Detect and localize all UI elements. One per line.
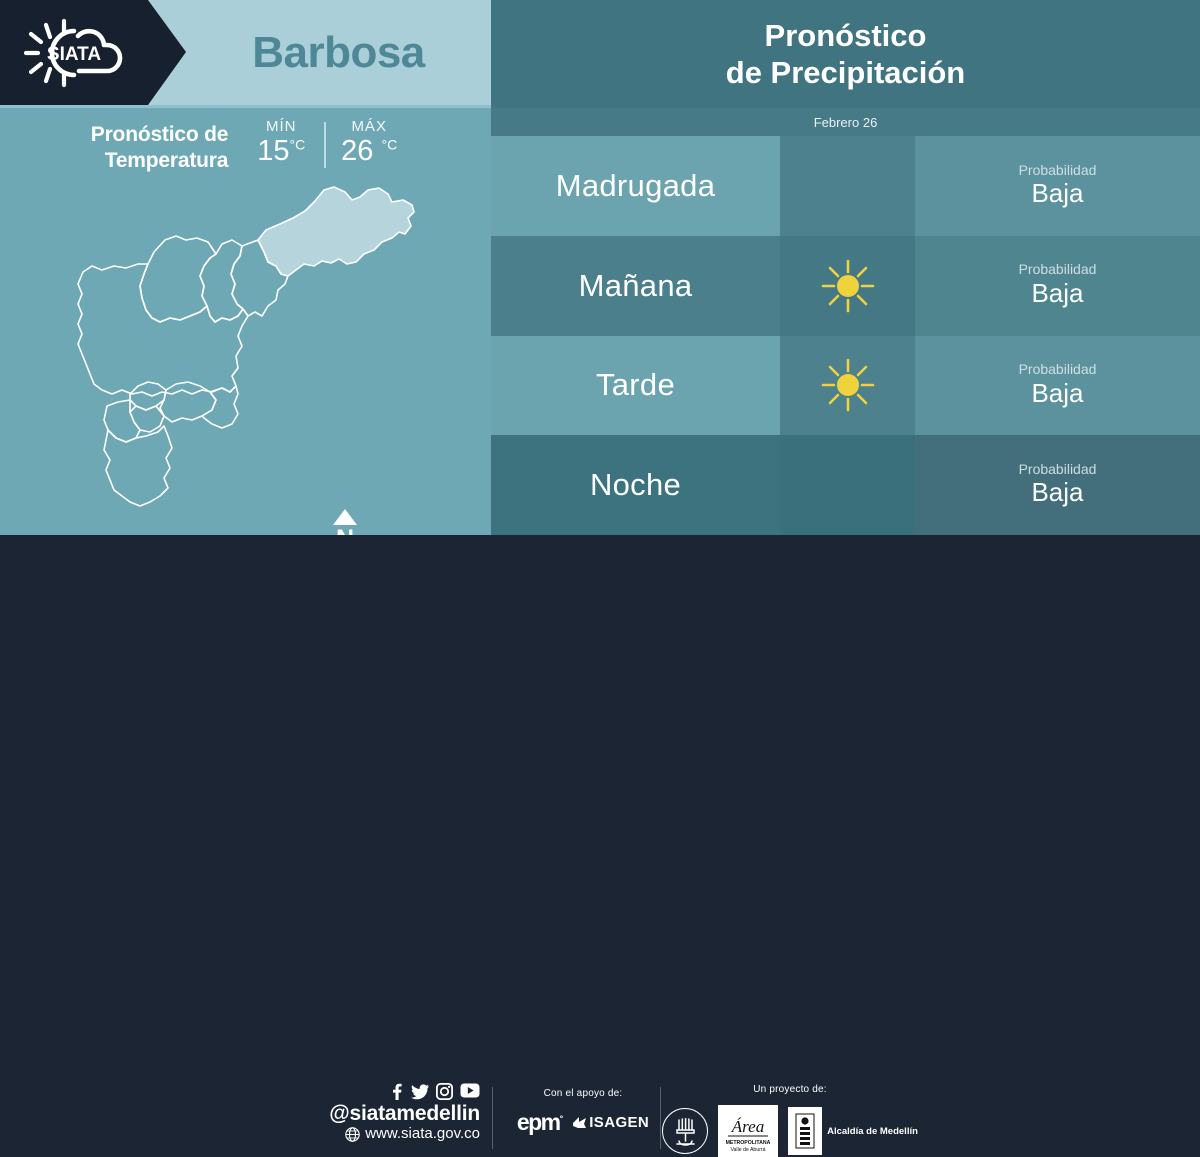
table-row[interactable]: Tarde [491, 336, 1200, 436]
siata-logo-text: SIATA [47, 44, 101, 65]
header-divider [0, 105, 491, 108]
area-metropolitana-logo[interactable]: Área METROPOLITANA Valle de Aburrá [718, 1105, 778, 1157]
alcaldia-logo[interactable]: Alcaldía de Medellín [788, 1107, 918, 1155]
table-row[interactable]: Madrugada Probabilidad Baja [491, 136, 1200, 236]
map-region-barbosa [258, 187, 414, 276]
temperature-title-line2: Temperatura [91, 148, 228, 174]
social-icons [300, 1083, 480, 1100]
period-label: Mañana [579, 268, 693, 304]
twitter-icon[interactable] [411, 1083, 429, 1100]
youtube-icon[interactable] [460, 1083, 480, 1098]
temperature-min-value: 15°C [257, 136, 305, 167]
temperature-min: MÍN 15°C [250, 118, 312, 167]
precipitation-title-line1: Pronóstico [765, 17, 927, 54]
area-logo-line1: METROPOLITANA [726, 1140, 771, 1146]
temperature-min-label: MÍN [266, 118, 297, 135]
period-cell: Mañana [491, 236, 780, 336]
probability-caption: Probabilidad [1019, 462, 1097, 477]
isagen-logo[interactable]: ISAGEN [572, 1114, 649, 1131]
probability-caption: Probabilidad [1019, 262, 1097, 277]
area-metropolitana-icon: Área METROPOLITANA Valle de Aburrá [719, 1106, 777, 1156]
probability-cell: Probabilidad Baja [915, 136, 1200, 236]
moon-icon [822, 160, 874, 212]
weather-forecast-card: SIATA Barbosa Pronóstico de Temperatura … [0, 0, 1200, 630]
map-region-sabaneta [130, 406, 164, 432]
temperature-min-unit: °C [289, 136, 305, 152]
social-handle[interactable]: @siatamedellin [300, 1102, 480, 1125]
support-caption: Con el apoyo de: [508, 1088, 658, 1099]
area-logo-line2: Valle de Aburrá [731, 1147, 766, 1153]
footer: @siatamedellin www.siata.gov.co Con el a… [0, 535, 1200, 630]
left-panel: SIATA Barbosa Pronóstico de Temperatura … [0, 0, 491, 535]
support-logos: epm° ISAGEN [508, 1109, 658, 1136]
alcaldia-label: Alcaldía de Medellín [827, 1126, 918, 1137]
temperature-title: Pronóstico de Temperatura [91, 118, 228, 173]
forecast-date: Febrero 26 [491, 108, 1200, 136]
social-block: @siatamedellin www.siata.gov.co [300, 1083, 480, 1143]
temperature-max: MÁX 26 °C [338, 118, 400, 167]
valle-de-aburra-map[interactable]: N [52, 178, 452, 528]
alcaldia-crest-icon [792, 1111, 818, 1151]
period-label: Tarde [596, 367, 675, 403]
website-text: www.siata.gov.co [365, 1125, 480, 1143]
temperature-title-line1: Pronóstico de [91, 122, 228, 148]
epm-logo[interactable]: epm° [517, 1109, 563, 1136]
temperature-values: MÍN 15°C MÁX 26 °C [250, 118, 400, 168]
probability-value: Baja [1031, 179, 1083, 209]
right-panel: Pronóstico de Precipitación Febrero 26 M… [491, 0, 1200, 535]
period-cell: Tarde [491, 336, 780, 436]
city-title: Barbosa [186, 0, 491, 105]
area-logo-word: Área [731, 1117, 764, 1136]
map-region-caldas [104, 426, 172, 506]
project-logos: Área METROPOLITANA Valle de Aburrá [660, 1105, 920, 1157]
isagen-text: ISAGEN [589, 1114, 649, 1131]
probability-cell: Probabilidad Baja [915, 236, 1200, 336]
project-block: Un proyecto de: [660, 1084, 920, 1157]
udea-seal-icon [668, 1114, 702, 1148]
project-caption: Un proyecto de: [660, 1084, 920, 1095]
probability-caption: Probabilidad [1019, 362, 1097, 377]
temperature-max-label: MÁX [351, 118, 387, 135]
alcaldia-crest-box [788, 1107, 822, 1155]
udea-logo[interactable] [662, 1108, 708, 1154]
table-row[interactable]: Noche Probabilidad Baja [491, 435, 1200, 535]
probability-caption: Probabilidad [1019, 163, 1097, 178]
facebook-icon[interactable] [389, 1083, 404, 1100]
weather-icon-cell [780, 236, 915, 336]
sun-cloud-icon: SIATA [12, 13, 137, 93]
period-label: Madrugada [556, 168, 716, 204]
map-region-copacabana [200, 240, 243, 322]
weather-icon-cell [780, 336, 915, 436]
footer-divider-1 [492, 1087, 493, 1149]
precipitation-title-line2: de Precipitación [726, 54, 965, 91]
support-block: Con el apoyo de: epm° ISAGEN [508, 1088, 658, 1136]
probability-cell: Probabilidad Baja [915, 336, 1200, 436]
website-row[interactable]: www.siata.gov.co [300, 1125, 480, 1143]
map-region-eastern-strip [202, 386, 238, 428]
weather-icon-cell [780, 136, 915, 236]
forecast-rows: Madrugada Probabilidad Baja Mañana [491, 136, 1200, 535]
globe-icon [345, 1127, 360, 1142]
period-label: Noche [590, 467, 681, 503]
temperature-divider [324, 122, 326, 168]
sun-icon [820, 258, 876, 314]
instagram-icon[interactable] [436, 1083, 453, 1100]
compass-arrow-icon [332, 508, 358, 526]
period-cell: Noche [491, 435, 780, 535]
isagen-mark-icon [572, 1115, 587, 1130]
temperature-max-unit: °C [382, 136, 398, 152]
map-svg [52, 178, 452, 528]
probability-value: Baja [1031, 379, 1083, 409]
map-region-medellin [78, 264, 248, 396]
period-cell: Madrugada [491, 136, 780, 236]
siata-logo-banner[interactable]: SIATA [0, 0, 186, 105]
probability-value: Baja [1031, 478, 1083, 508]
moon-icon [822, 459, 874, 511]
probability-cell: Probabilidad Baja [915, 435, 1200, 535]
table-row[interactable]: Mañana [491, 236, 1200, 336]
temperature-max-value: 26 °C [341, 136, 397, 167]
precipitation-title: Pronóstico de Precipitación [491, 0, 1200, 108]
weather-icon-cell [780, 435, 915, 535]
sun-icon [820, 357, 876, 413]
probability-value: Baja [1031, 279, 1083, 309]
map-region-envigado [160, 382, 216, 422]
